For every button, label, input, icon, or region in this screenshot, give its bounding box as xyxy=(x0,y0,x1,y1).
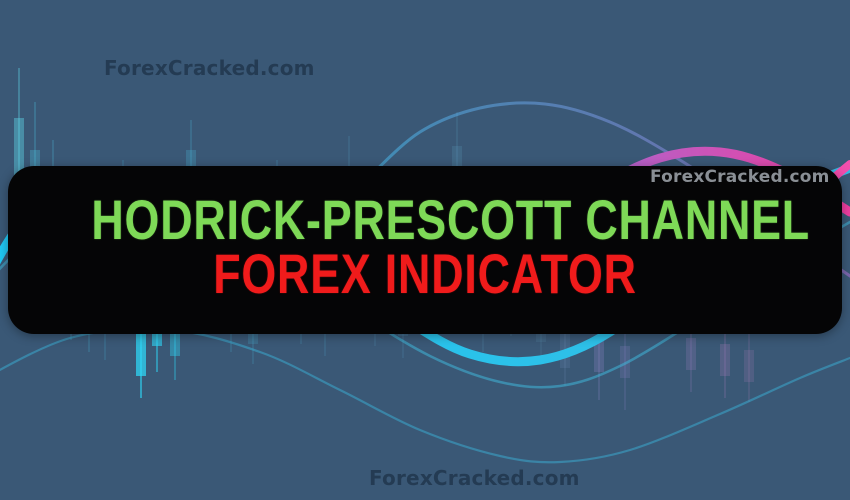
watermark-on-plate: ForexCracked.com xyxy=(650,167,830,187)
watermark-bottom: ForexCracked.com xyxy=(369,466,580,490)
title-stack: Hodrick-Prescott Channel Forex Indicator xyxy=(8,194,842,299)
candlestick-body xyxy=(136,330,146,376)
candlestick-body xyxy=(744,350,754,382)
candlestick-body xyxy=(686,338,696,370)
forex-indicator-banner: ForexCracked.com ForexCracked.com Hodric… xyxy=(0,0,850,500)
candlestick-body xyxy=(720,344,730,376)
title-plate: Hodrick-Prescott Channel Forex Indicator xyxy=(8,166,842,334)
title-line-secondary: Forex Indicator xyxy=(91,248,758,300)
title-line-primary: Hodrick-Prescott Channel xyxy=(91,194,758,246)
watermark-top-left: ForexCracked.com xyxy=(104,56,315,80)
